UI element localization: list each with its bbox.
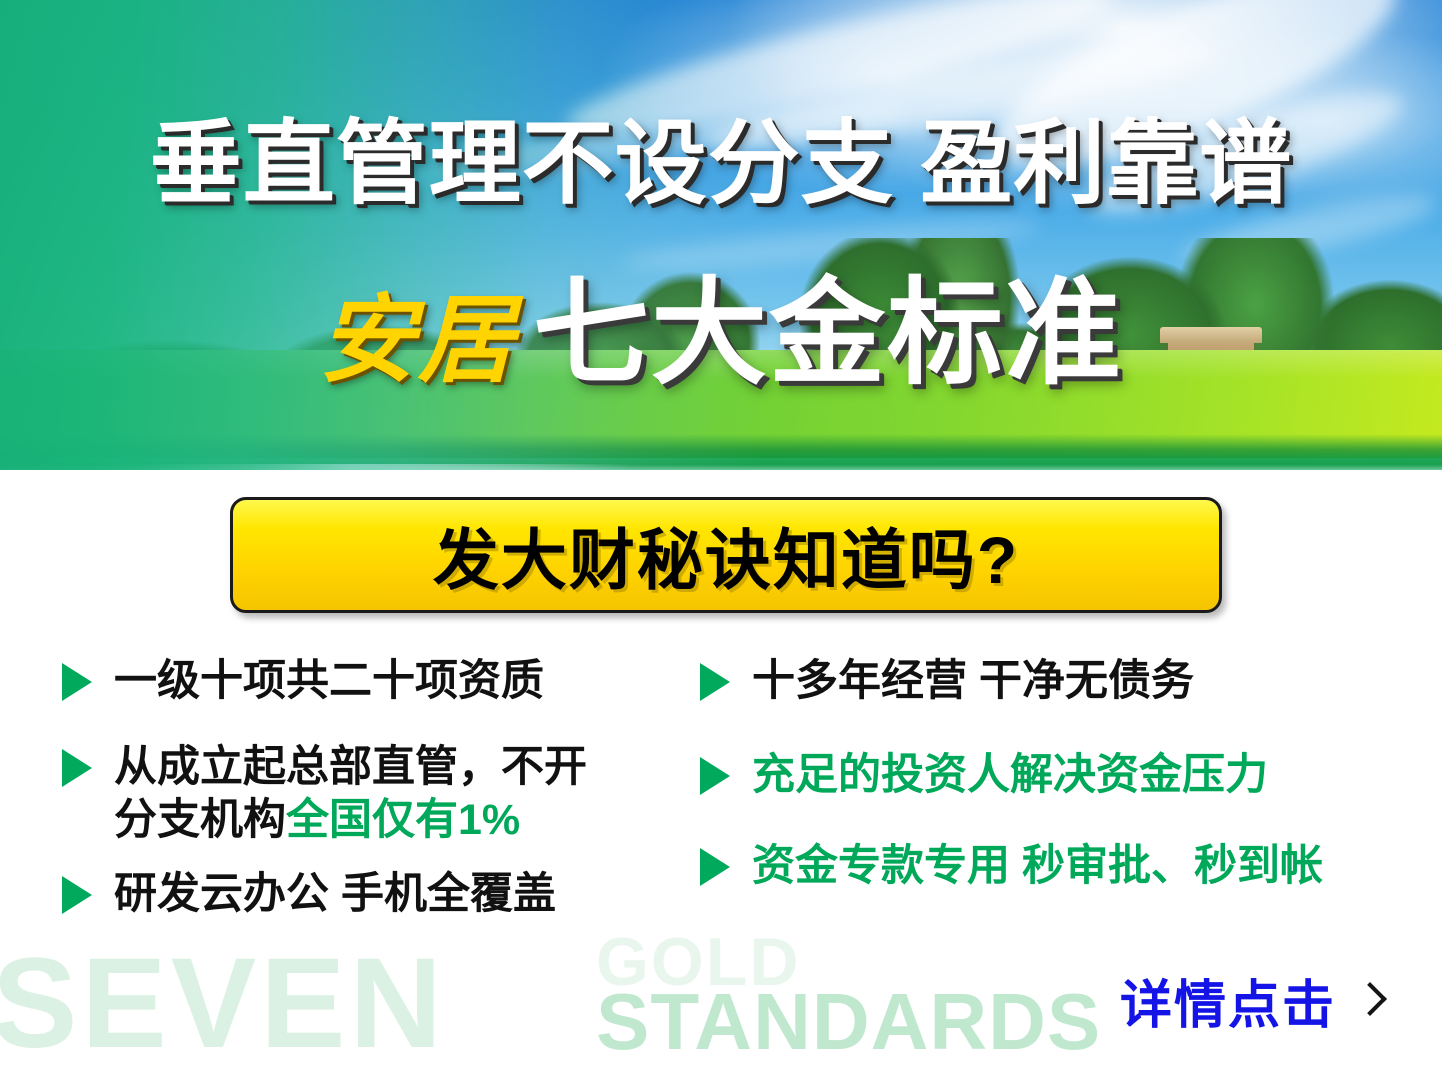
feature-item: 从成立起总部直管，不开分支机构全国仅有1% bbox=[62, 741, 702, 846]
triangle-bullet-icon bbox=[62, 749, 92, 787]
details-cta-button[interactable]: 详情点击 bbox=[1120, 963, 1382, 1038]
highlight-question-text: 发大财秘诀知道吗? bbox=[433, 507, 1019, 603]
feature-item-label: 研发云办公 手机全覆盖 bbox=[114, 868, 556, 920]
chevron-right-icon bbox=[1353, 982, 1387, 1016]
feature-column-left: 一级十项共二十项资质 从成立起总部直管，不开分支机构全国仅有1% 研发云办公 手… bbox=[62, 655, 702, 947]
feature-item-label: 从成立起总部直管，不开分支机构全国仅有1% bbox=[114, 741, 587, 846]
triangle-bullet-icon bbox=[700, 663, 730, 701]
feature-item-label: 资金专款专用 秒审批、秒到帐 bbox=[752, 840, 1323, 892]
feature-item: 一级十项共二十项资质 bbox=[62, 655, 702, 707]
feature-column-right: 十多年经营 干净无债务 充足的投资人解决资金压力 资金专款专用 秒审批、秒到帐 bbox=[700, 655, 1420, 918]
feature-item: 十多年经营 干净无债务 bbox=[700, 655, 1420, 707]
triangle-bullet-icon bbox=[62, 663, 92, 701]
triangle-bullet-icon bbox=[700, 848, 730, 886]
triangle-bullet-icon bbox=[62, 876, 92, 914]
hero-headline-primary: 垂直管理不设分支 盈利靠谱 bbox=[0, 118, 1442, 210]
hero-green-overlay bbox=[0, 0, 1442, 470]
feature-list-section: 一级十项共二十项资质 从成立起总部直管，不开分支机构全国仅有1% 研发云办公 手… bbox=[0, 655, 1442, 985]
feature-item-highlight: 全国仅有1% bbox=[286, 796, 520, 844]
feature-item: 资金专款专用 秒审批、秒到帐 bbox=[700, 840, 1420, 892]
feature-item: 充足的投资人解决资金压力 bbox=[700, 749, 1420, 801]
feature-item-label: 充足的投资人解决资金压力 bbox=[752, 749, 1268, 801]
hero-headline-secondary: 安居七大金标准 bbox=[0, 275, 1442, 391]
hero-banner: 垂直管理不设分支 盈利靠谱 安居七大金标准 bbox=[0, 0, 1442, 470]
feature-item-label: 十多年经营 干净无债务 bbox=[752, 655, 1194, 707]
feature-item-line1: 从成立起总部直管，不开 bbox=[114, 743, 587, 791]
highlight-question-banner: 发大财秘诀知道吗? bbox=[230, 497, 1222, 613]
triangle-bullet-icon bbox=[700, 757, 730, 795]
feature-item: 研发云办公 手机全覆盖 bbox=[62, 868, 702, 920]
hero-brand-label: 安居 bbox=[319, 287, 517, 394]
details-cta-label: 详情点击 bbox=[1120, 963, 1336, 1038]
feature-item-line2: 分支机构 bbox=[114, 796, 286, 844]
feature-item-label: 一级十项共二十项资质 bbox=[114, 655, 544, 707]
hero-slogan-label: 七大金标准 bbox=[533, 268, 1123, 398]
advertisement-banner: 垂直管理不设分支 盈利靠谱 安居七大金标准 发大财秘诀知道吗? 一级十项共二十项… bbox=[0, 0, 1442, 1066]
watermark-standards-text: STANDARDS bbox=[596, 982, 1101, 1062]
